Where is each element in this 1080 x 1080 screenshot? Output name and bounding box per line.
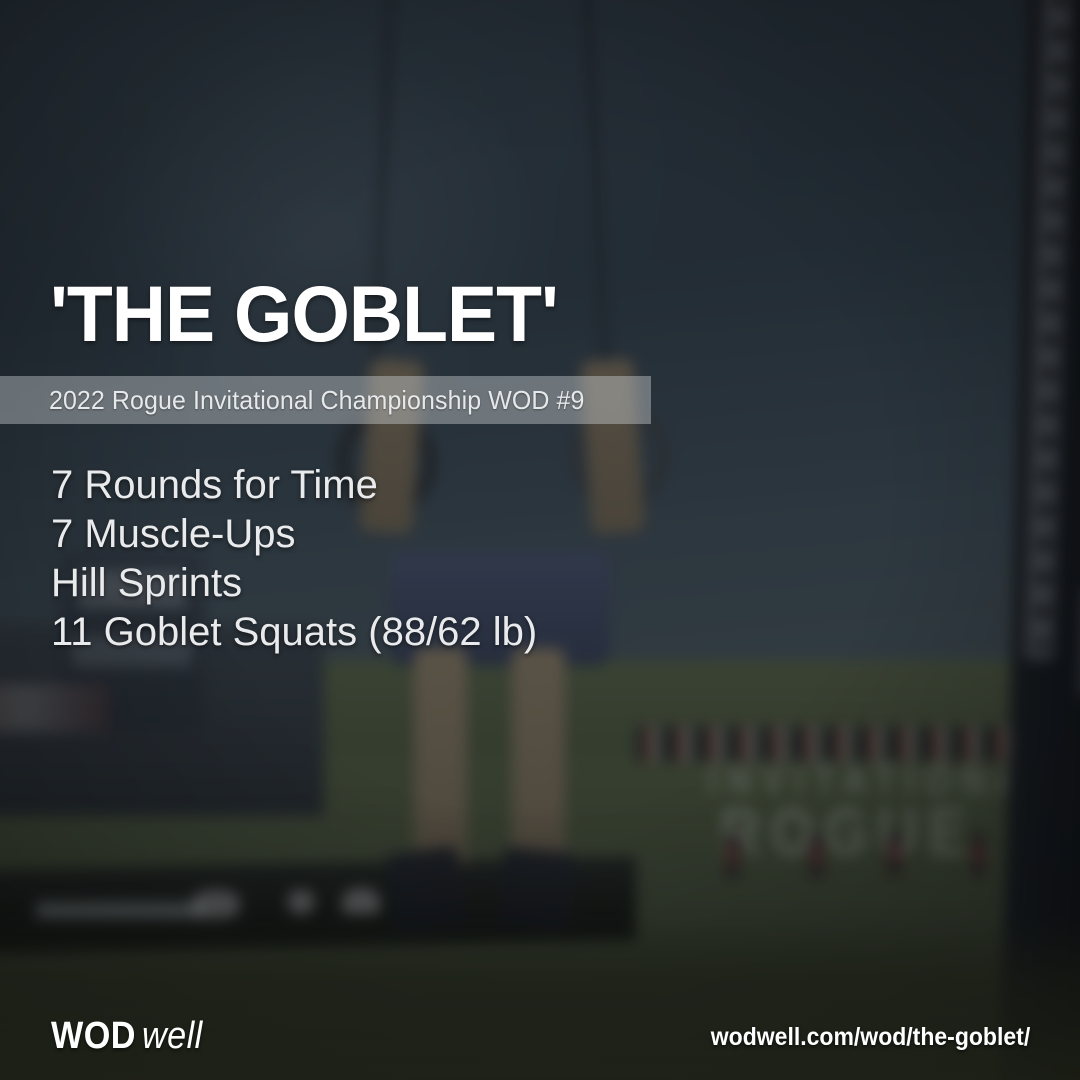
- workout-line: 7 Muscle-Ups: [51, 510, 537, 559]
- workout-line: 7 Rounds for Time: [51, 461, 537, 510]
- logo-wod-text: WOD: [51, 1015, 136, 1058]
- site-url[interactable]: wodwell.com/wod/the-goblet/: [711, 1023, 1030, 1052]
- subtitle-band: 2022 Rogue Invitational Championship WOD…: [0, 376, 651, 424]
- page-subtitle: 2022 Rogue Invitational Championship WOD…: [0, 385, 584, 416]
- page-title: 'THE GOBLET': [50, 272, 558, 356]
- workout-line: 11 Goblet Squats (88/62 lb): [51, 608, 537, 657]
- logo-well-text: well: [142, 1015, 203, 1058]
- workout-description: 7 Rounds for Time 7 Muscle-Ups Hill Spri…: [51, 461, 537, 657]
- poster-content: 'THE GOBLET' 2022 Rogue Invitational Cha…: [0, 0, 1080, 1080]
- wod-poster: INVITATIONAL ROGUE: [0, 0, 1080, 1080]
- wodwell-logo[interactable]: WODwell: [51, 1015, 210, 1058]
- workout-line: Hill Sprints: [51, 559, 537, 608]
